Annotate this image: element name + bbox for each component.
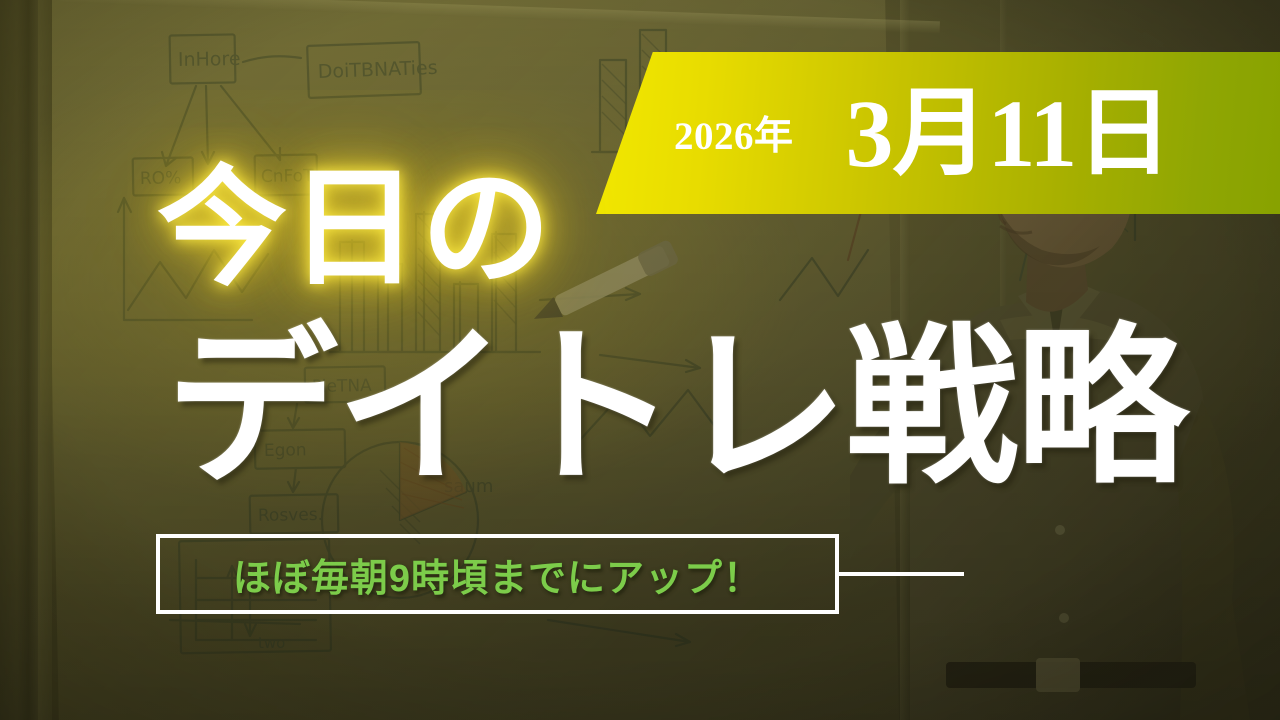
subtitle-connector-rule [839,572,964,576]
date-month-day-label: 3月11日 [846,86,1172,182]
date-year-label: 2026年 [674,117,794,156]
subtitle-box: ほぼ毎朝9時頃までにアップ！ [156,534,839,614]
thumbnail-canvas: InHore DoiTBNATies RO% CnFoT PieTNA Egon… [0,0,1280,720]
subtitle-label: ほぼ毎朝9時頃までにアップ！ [233,547,762,602]
date-banner: 2026年 3月11日 [596,52,1280,214]
